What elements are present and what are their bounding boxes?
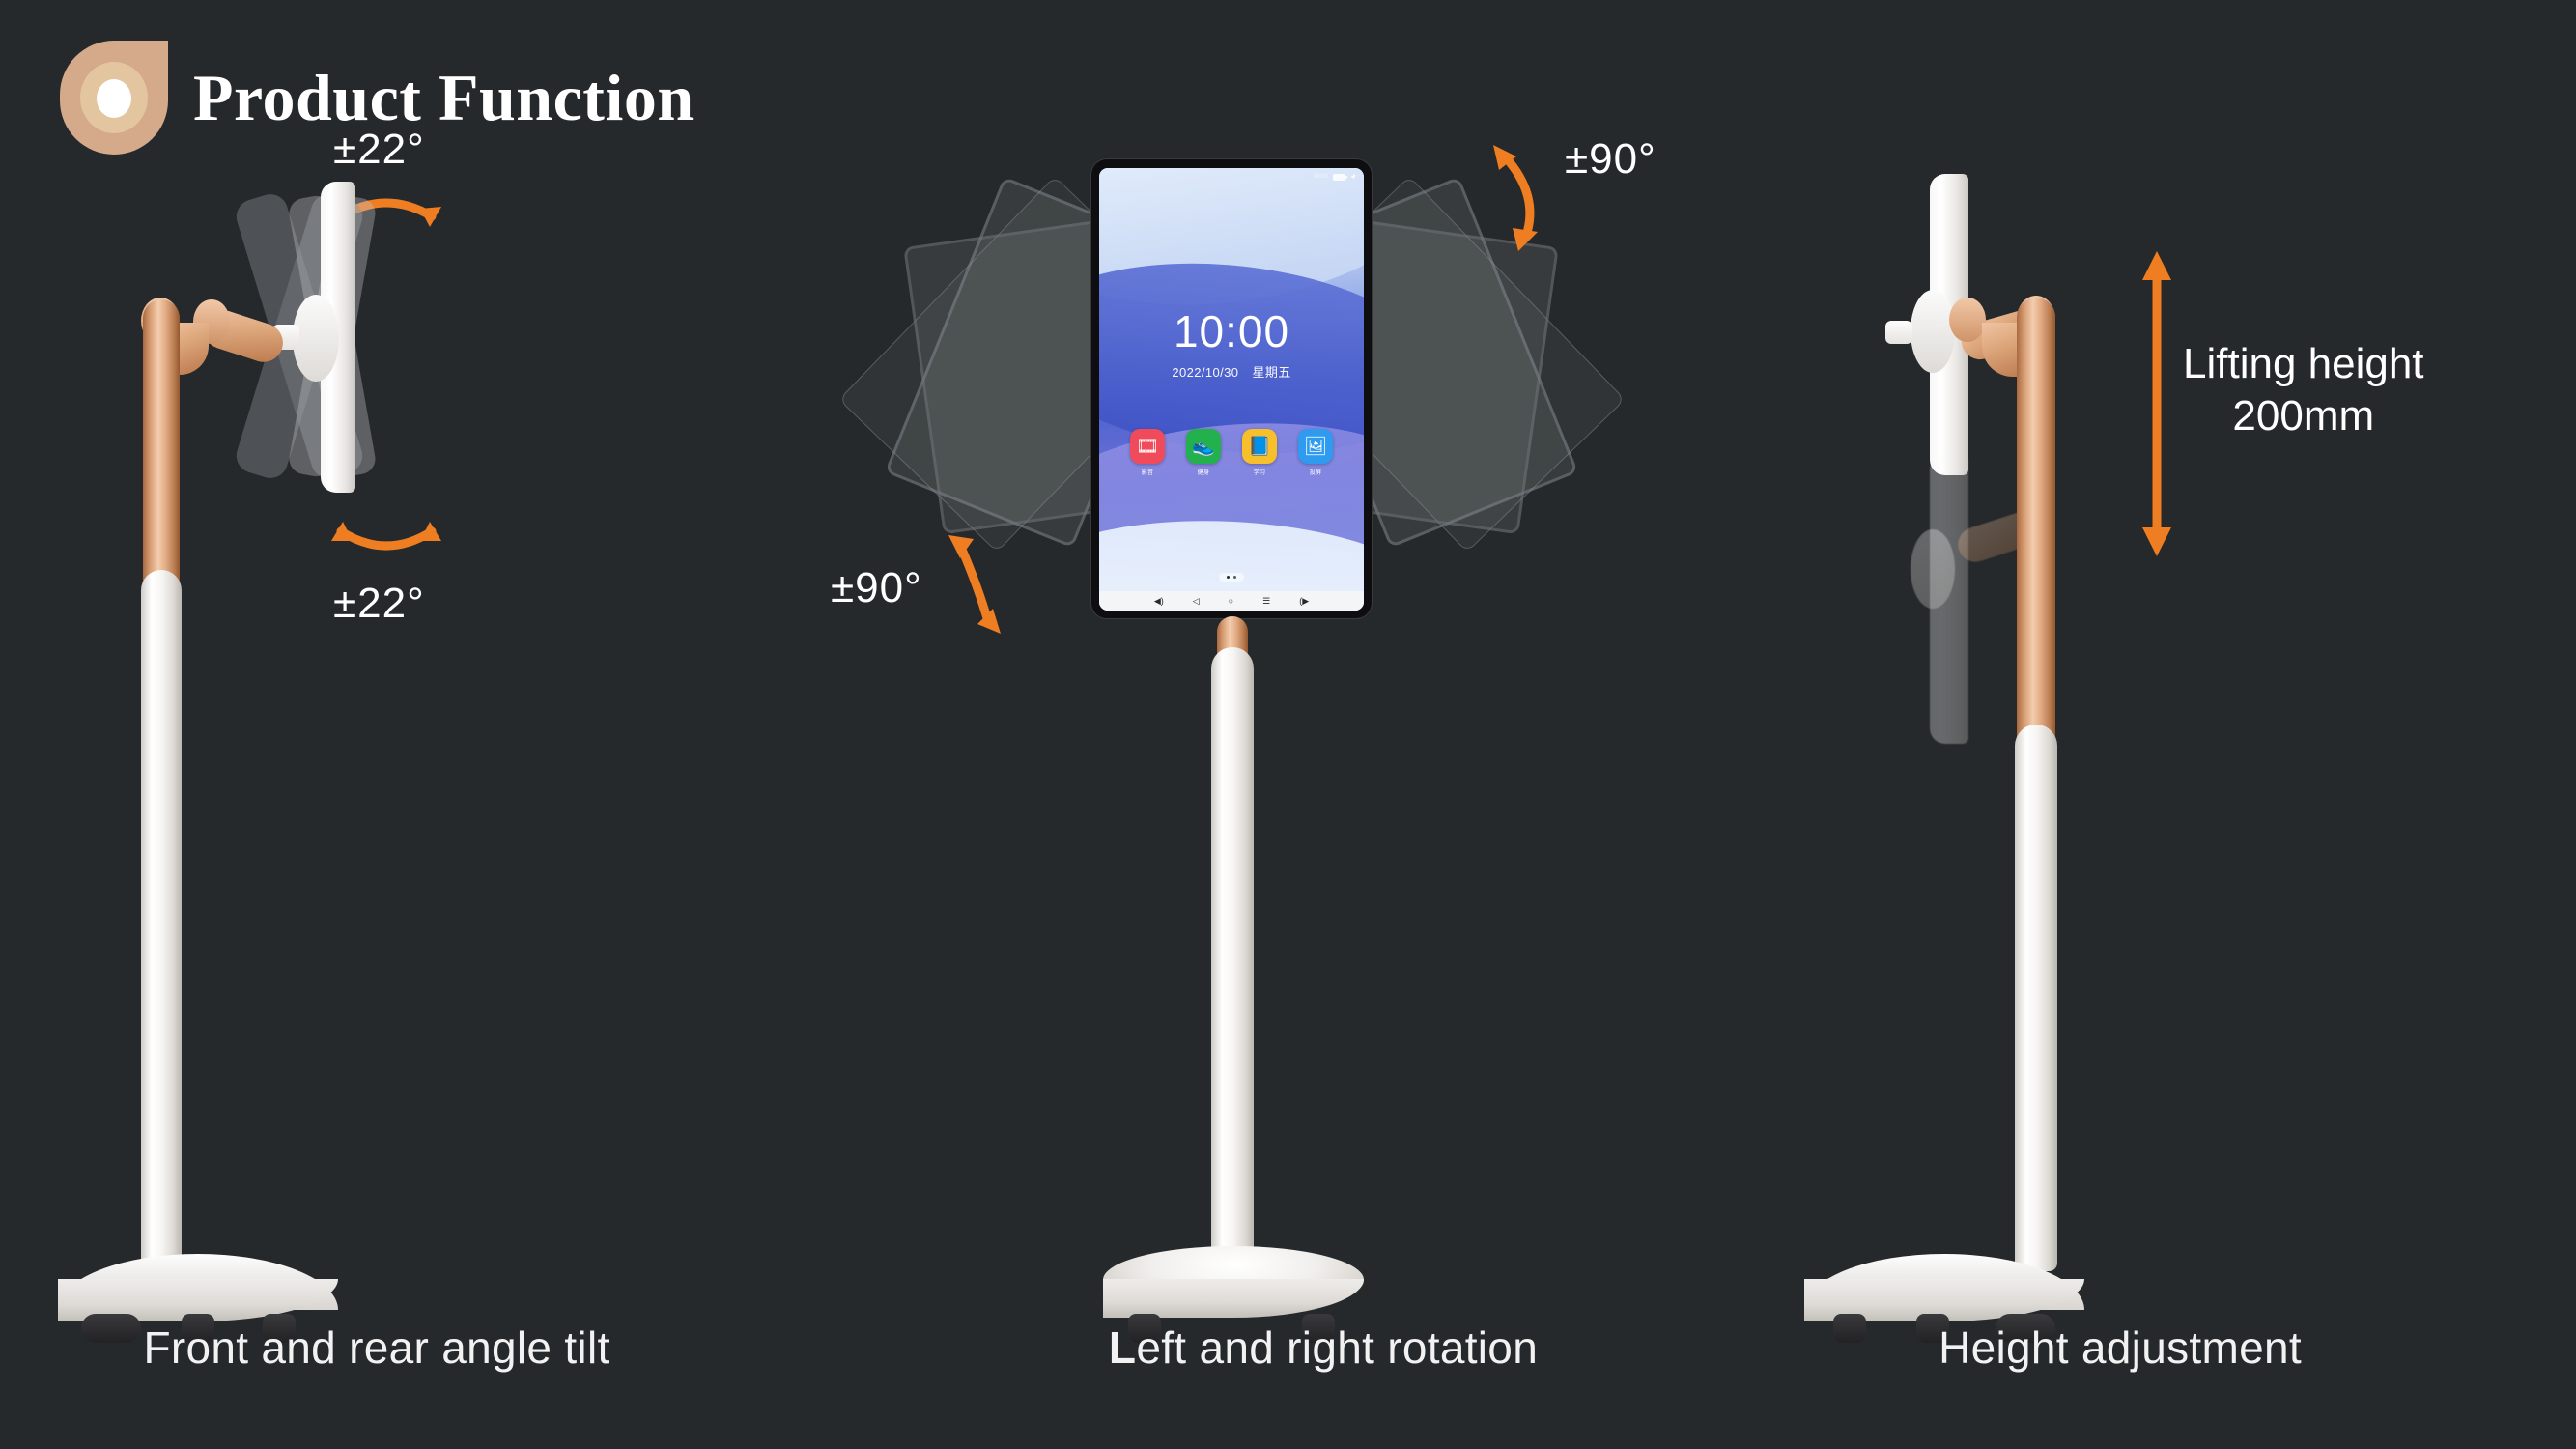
stand-column-lower — [141, 570, 182, 1271]
wifi-icon: ◕ — [1350, 172, 1356, 182]
app-shortcut-screencast[interactable]: 🖼 投屏 — [1298, 429, 1333, 476]
rotation-angle-top-label: ±90° — [1565, 135, 1656, 184]
screencast-app-label: 投屏 — [1298, 468, 1333, 476]
copper-column-right — [2017, 298, 2055, 742]
tilt-angle-bottom-label: ±22° — [333, 580, 425, 628]
tablet-device: 10:00 ◕ 10:00 2022/10/30星期五 🎞 影音 👟 健身 — [1091, 159, 1372, 618]
lifting-height-label: Lifting height 200mm — [2183, 338, 2424, 441]
app-shortcut-media[interactable]: 🎞 影音 — [1130, 429, 1165, 476]
panel-left-right-rotation: 10:00 ◕ 10:00 2022/10/30星期五 🎞 影音 👟 健身 — [898, 145, 1748, 1391]
monitor-lowered-ghost-hump — [1911, 529, 1955, 609]
lockscreen-clock: 10:00 2022/10/30星期五 — [1099, 309, 1364, 381]
system-navigation-bar: ◀) ◁ ○ ☰ (▶ — [1099, 591, 1364, 611]
page-dot — [1233, 576, 1236, 579]
media-app-label: 影音 — [1130, 468, 1165, 476]
copper-column-upper — [143, 299, 180, 587]
rotation-angle-bottom-label: ±90° — [831, 564, 922, 612]
monitor-back-hump-raised — [1911, 290, 1955, 373]
lifting-height-arrow-icon — [2135, 249, 2179, 558]
volume-down-icon[interactable]: (▶ — [1299, 597, 1309, 606]
caption-text: eft and right rotation — [1136, 1322, 1538, 1373]
rotation-bottom-arrow-icon — [925, 522, 1012, 647]
app-shortcut-study[interactable]: 📘 学习 — [1242, 429, 1277, 476]
caption-lead-char: L — [1109, 1322, 1136, 1373]
base-body — [1103, 1279, 1364, 1318]
fitness-app-label: 健身 — [1186, 468, 1221, 476]
brand-logo-mark — [60, 41, 168, 155]
clock-date: 2022/10/30星期五 — [1099, 362, 1364, 381]
study-app-label: 学习 — [1242, 468, 1277, 476]
rotation-top-arrow-icon — [1476, 135, 1563, 261]
battery-icon — [1333, 174, 1345, 181]
lift-hinge — [1885, 321, 1912, 344]
app-shortcut-fitness[interactable]: 👟 健身 — [1186, 429, 1221, 476]
stand-column-lower-right — [2015, 724, 2057, 1271]
lifting-height-line1: Lifting height — [2183, 338, 2424, 390]
clock-date-value: 2022/10/30 — [1172, 365, 1238, 380]
app-shortcut-row: 🎞 影音 👟 健身 📘 学习 🖼 投屏 — [1099, 429, 1364, 476]
tilt-angle-top-label: ±22° — [333, 126, 425, 174]
clock-weekday: 星期五 — [1252, 365, 1290, 380]
panel-height-adjustment: Lifting height 200mm Height adjustment — [1768, 145, 2531, 1391]
monitor-back-hump — [293, 295, 339, 382]
panel-front-rear-tilt: ±22° ±22° Front and rear angle tilt — [58, 145, 869, 1391]
fitness-app-icon[interactable]: 👟 — [1186, 429, 1221, 464]
caption-text: Front and rear angle tilt — [143, 1322, 609, 1373]
caption-height-adjustment: Height adjustment — [1739, 1321, 2502, 1374]
study-app-icon[interactable]: 📘 — [1242, 429, 1277, 464]
page-title: Product Function — [193, 65, 694, 130]
status-bar: 10:00 ◕ — [1314, 172, 1356, 182]
caption-left-right-rotation: Left and right rotation — [898, 1321, 1748, 1374]
stand-base-right — [1804, 1254, 2084, 1321]
screencast-app-icon[interactable]: 🖼 — [1298, 429, 1333, 464]
status-bar-time: 10:00 — [1314, 174, 1328, 180]
caption-text: Height adjustment — [1939, 1322, 2302, 1373]
copper-fork-knuckle-front — [1949, 298, 1986, 342]
stand-column-center — [1211, 647, 1254, 1273]
logo-inner-dot — [97, 79, 131, 118]
tilt-bottom-arrow-icon — [324, 512, 449, 570]
back-icon[interactable]: ◁ — [1193, 597, 1200, 606]
home-page-indicator[interactable] — [1219, 573, 1244, 582]
stand-base-center — [1103, 1246, 1364, 1321]
lifting-height-line2: 200mm — [2183, 390, 2424, 442]
caption-front-rear-tilt: Front and rear angle tilt — [0, 1321, 753, 1374]
tablet-screen[interactable]: 10:00 ◕ 10:00 2022/10/30星期五 🎞 影音 👟 健身 — [1099, 168, 1364, 611]
clock-time: 10:00 — [1099, 309, 1364, 354]
stand-base — [58, 1254, 338, 1321]
media-app-icon[interactable]: 🎞 — [1130, 429, 1165, 464]
page-dot-active — [1227, 576, 1230, 579]
volume-up-icon[interactable]: ◀) — [1154, 597, 1164, 606]
recents-icon[interactable]: ☰ — [1262, 597, 1270, 606]
home-icon[interactable]: ○ — [1229, 597, 1233, 606]
